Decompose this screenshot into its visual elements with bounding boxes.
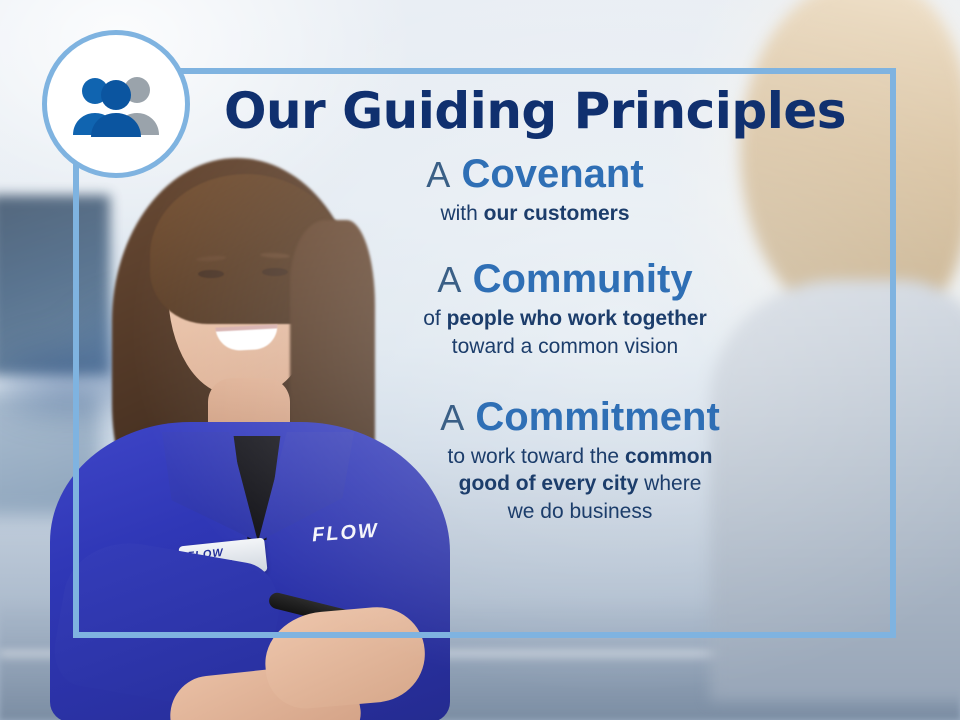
principle-commitment-sub-line2: good of every city where: [280, 470, 880, 498]
people-group-icon: [70, 71, 162, 137]
principle-community-word: Community: [473, 257, 693, 301]
principle-commitment-subtext: to work toward the common good of every …: [280, 443, 880, 526]
principle-commitment-article: A: [440, 397, 464, 438]
principle-commitment-sub-line1: to work toward the common: [280, 443, 880, 471]
principle-covenant-sub-plain: with: [440, 202, 483, 225]
marketing-image: FLOW FLOW AUTOMOTIVE Our Guiding Princip…: [0, 0, 960, 720]
principle-covenant: A Covenant with our customers: [190, 152, 880, 228]
principle-covenant-word: Covenant: [461, 152, 643, 196]
principle-covenant-subtext: with our customers: [190, 200, 880, 228]
principle-commitment-sub-line3: we do business: [280, 498, 880, 526]
page-title: Our Guiding Principles: [190, 85, 880, 138]
principle-commitment-sub-bold-1: common: [625, 445, 713, 468]
principle-commitment-word: Commitment: [475, 395, 719, 439]
principle-commitment-sub-plain-2: where: [638, 472, 701, 495]
principle-covenant-article: A: [426, 154, 450, 195]
overlay-text-block: Our Guiding Principles A Covenant with o…: [190, 85, 880, 526]
principle-community-heading: A Community: [250, 257, 880, 301]
principle-community-subtext: of people who work together toward a com…: [250, 305, 880, 360]
principle-community: A Community of people who work together …: [190, 257, 880, 360]
people-badge: [42, 30, 190, 178]
principle-community-sub-plain: of: [423, 307, 446, 330]
principle-community-sub-bold: people who work together: [447, 307, 707, 330]
principle-community-sub-line1: of people who work together: [250, 305, 880, 333]
principle-community-sub-line2: toward a common vision: [250, 333, 880, 361]
principle-commitment-heading: A Commitment: [280, 395, 880, 439]
principle-community-article: A: [437, 259, 461, 300]
principle-covenant-heading: A Covenant: [190, 152, 880, 196]
principle-covenant-sub-bold: our customers: [484, 202, 630, 225]
principle-commitment-sub-plain: to work toward the: [448, 445, 625, 468]
principle-commitment-sub-bold-2: good of every city: [459, 472, 639, 495]
principle-commitment: A Commitment to work toward the common g…: [190, 395, 880, 526]
